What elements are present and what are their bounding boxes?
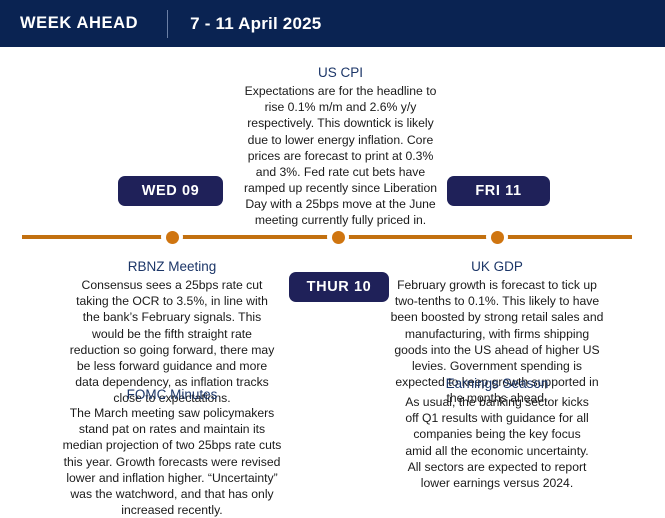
page-header: WEEK AHEAD 7 - 11 April 2025 [0, 0, 665, 47]
event-us-cpi: US CPI Expectations are for the headline… [243, 64, 438, 228]
event-title-fomc-minutes: FOMC Minutes [62, 386, 282, 404]
event-title-rbnz-meeting: RBNZ Meeting [66, 258, 278, 276]
timeline-marker-thur-10 [327, 226, 349, 248]
date-pill-wed-09: WED 09 [118, 176, 223, 206]
page-title: WEEK AHEAD [20, 14, 138, 33]
timeline-marker-fri-11 [486, 226, 508, 248]
event-rbnz-meeting: RBNZ Meeting Consensus sees a 25bps rate… [66, 258, 278, 406]
event-body-fomc-minutes: The March meeting saw policymakers stand… [62, 405, 282, 518]
date-pill-fri-11: FRI 11 [447, 176, 550, 206]
date-pill-thur-10: THUR 10 [289, 272, 389, 302]
event-body-earnings-season: As usual, the banking sector kicks off Q… [399, 394, 595, 491]
event-earnings-season: Earnings Season As usual, the banking se… [399, 375, 595, 491]
event-title-earnings-season: Earnings Season [399, 375, 595, 393]
event-title-uk-gdp: UK GDP [390, 258, 604, 276]
event-title-us-cpi: US CPI [243, 64, 438, 82]
timeline-marker-wed-09 [161, 226, 183, 248]
header-divider [167, 10, 168, 38]
event-fomc-minutes: FOMC Minutes The March meeting saw polic… [62, 386, 282, 518]
event-body-us-cpi: Expectations are for the headline to ris… [243, 83, 438, 228]
header-date-range: 7 - 11 April 2025 [190, 14, 321, 34]
